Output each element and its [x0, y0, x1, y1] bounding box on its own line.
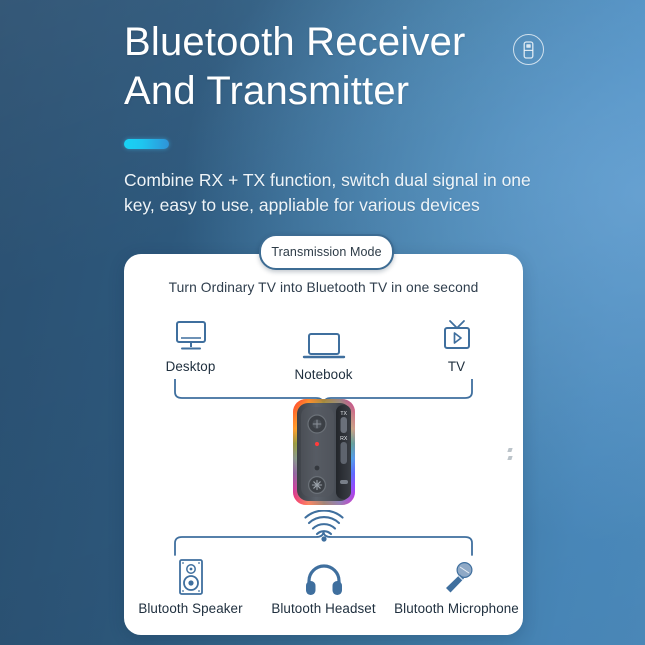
page-title-line-2: And Transmitter [124, 67, 554, 116]
output-device-headset[interactable]: Blutooth Headset [257, 554, 390, 616]
header: Bluetooth Receiver And Transmitter Combi… [124, 18, 554, 116]
page-title: Bluetooth Receiver And Transmitter [124, 18, 554, 116]
usb-dongle-icon [513, 34, 544, 65]
output-device-microphone[interactable]: Blutooth Microphone [390, 554, 523, 616]
output-device-row: Blutooth Speaker Blutooth Headset [124, 554, 523, 616]
card-tagline: Turn Ordinary TV into Bluetooth TV in on… [124, 280, 523, 295]
laptop-icon [302, 320, 346, 362]
page-subtitle: Combine RX + TX function, switch dual si… [124, 168, 536, 218]
speaker-icon [176, 554, 206, 596]
output-device-label: Blutooth Speaker [138, 601, 242, 616]
device-port-label-rx: RX [340, 436, 348, 442]
tv-play-icon [439, 312, 475, 354]
output-device-label: Blutooth Microphone [394, 601, 519, 616]
microphone-icon [439, 554, 475, 596]
resize-grip-icon [506, 444, 515, 466]
output-device-speaker[interactable]: Blutooth Speaker [124, 554, 257, 616]
accent-bar [124, 139, 169, 149]
desktop-monitor-icon [172, 312, 210, 354]
transmission-mode-pill[interactable]: Transmission Mode [259, 234, 394, 270]
source-device-label: TV [448, 359, 465, 374]
source-device-tv[interactable]: TV [390, 312, 523, 374]
bluetooth-receiver-transmitter-device[interactable]: TX RX [280, 396, 368, 508]
source-device-label: Desktop [166, 359, 216, 374]
transmission-mode-card: Turn Ordinary TV into Bluetooth TV in on… [124, 254, 523, 635]
output-device-label: Blutooth Headset [271, 601, 375, 616]
headphones-icon [304, 554, 344, 596]
device-port-label-tx: TX [340, 411, 347, 417]
source-device-desktop[interactable]: Desktop [124, 312, 257, 374]
page-root: Bluetooth Receiver And Transmitter Combi… [0, 0, 645, 645]
page-title-line-1: Bluetooth Receiver [124, 20, 466, 64]
source-device-notebook[interactable]: Notebook [257, 320, 390, 382]
source-device-row: Desktop Notebook [124, 312, 523, 374]
